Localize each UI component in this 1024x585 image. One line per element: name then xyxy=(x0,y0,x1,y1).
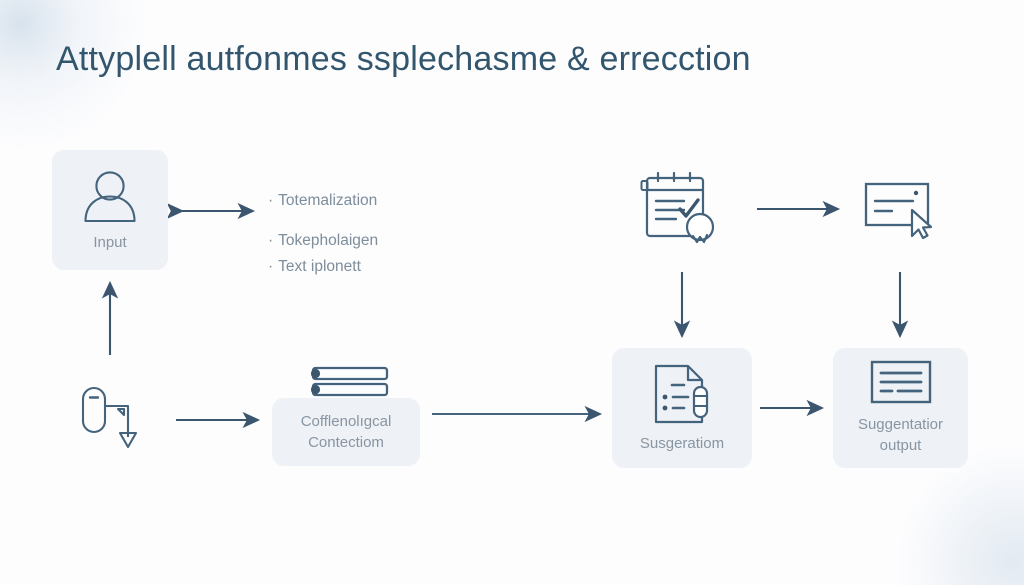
bullet-text: Totemalization xyxy=(278,192,377,209)
bullet-marker: · xyxy=(268,258,273,275)
mouse-down-arrow-icon xyxy=(80,385,152,453)
card-cursor-icon xyxy=(864,182,938,240)
bullet-marker: · xyxy=(268,232,273,249)
user-icon xyxy=(80,168,140,226)
node-context-label-line1: Cofflenolıgcal xyxy=(295,411,398,432)
list-item: ·Tokepholaigen xyxy=(268,230,448,252)
bullet-text: Tokepholaigen xyxy=(278,232,378,249)
node-output[interactable]: Suggentatior output xyxy=(833,348,968,468)
page-title: Attyplell autfonmes ssplechasme & errecc… xyxy=(56,36,751,82)
node-context-label-line2: Contectiom xyxy=(302,432,390,453)
books-icon xyxy=(303,366,391,400)
certificate-seal-icon xyxy=(640,170,726,250)
bullet-marker: · xyxy=(268,192,273,209)
node-output-label-line2: output xyxy=(874,435,928,456)
list-item: ·Totemalization xyxy=(268,190,448,212)
diagram-canvas: Attyplell autfonmes ssplechasme & errecc… xyxy=(0,0,1024,585)
bullet-text: Text iplonett xyxy=(278,258,361,275)
connector-layer: bullets --> xyxy=(0,0,1024,585)
list-item: ·Text iplonett xyxy=(268,256,448,278)
node-input-label: Input xyxy=(87,232,132,253)
node-generation-label: Susgeratiom xyxy=(634,433,730,454)
document-pencil-icon xyxy=(652,363,712,425)
bullet-list: ·Totemalization ·Tokepholaigen ·Text ipl… xyxy=(268,190,448,278)
text-card-icon xyxy=(870,360,932,404)
node-output-label-line1: Suggentatior xyxy=(852,414,949,435)
node-generation[interactable]: Susgeratiom xyxy=(612,348,752,468)
node-context[interactable]: Cofflenolıgcal Contectiom xyxy=(272,398,420,466)
node-input[interactable]: Input xyxy=(52,150,168,270)
